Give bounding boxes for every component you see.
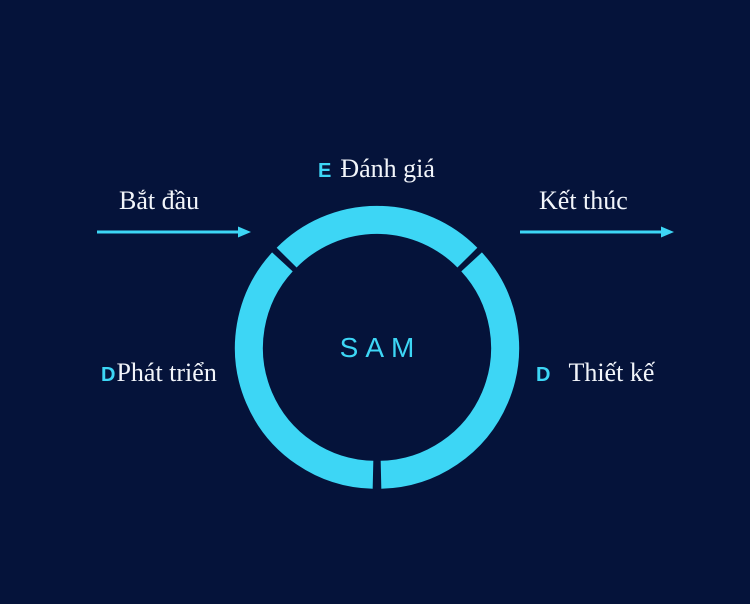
phase-text-develop: Phát triển	[116, 358, 216, 388]
sam-cycle-ring	[0, 0, 750, 604]
phase-label-develop: D Phát triển	[101, 358, 217, 388]
flow-start-caption: Bắt đầu	[119, 186, 199, 216]
ring-segment-design	[381, 262, 505, 475]
ring-segment-evaluate	[287, 220, 468, 258]
center-label: SAM	[333, 332, 422, 364]
phase-text-design: Thiết kế	[568, 358, 654, 388]
phase-text-evaluate: Đánh giá	[340, 154, 435, 184]
phase-label-evaluate: E Đánh giá	[318, 154, 435, 184]
arrow-right-icon	[520, 224, 676, 240]
phase-key-design: D	[536, 364, 550, 387]
ring-segment-develop	[249, 262, 373, 475]
arrow-right-icon	[97, 224, 253, 240]
phase-key-evaluate: E	[318, 160, 331, 183]
flow-end-caption: Kết thúc	[539, 186, 628, 216]
phase-key-develop: D	[101, 364, 115, 387]
diagram-canvas: SAM E Đánh giá D Phát triển D Thiết kế B…	[0, 0, 750, 604]
phase-label-design: D Thiết kế	[536, 358, 654, 388]
